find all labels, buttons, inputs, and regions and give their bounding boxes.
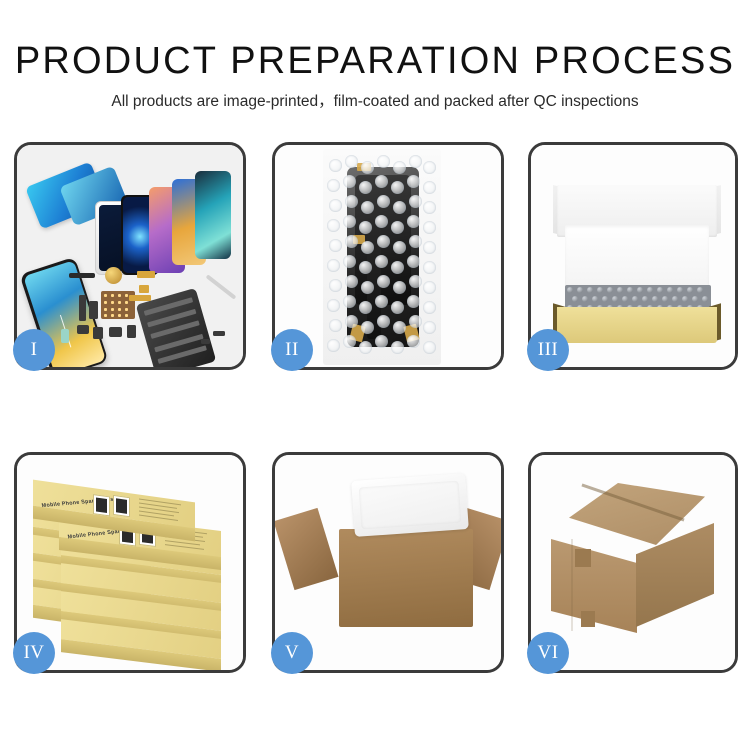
flex-cable — [69, 273, 95, 278]
styrofoam-lid — [351, 473, 469, 537]
step-badge-4: IV — [13, 632, 55, 674]
step-1-image — [17, 145, 243, 367]
step-panel-1: I — [14, 142, 246, 370]
step-panel-2: II — [272, 142, 504, 370]
step-5-image — [275, 455, 501, 670]
teal-gradient-phone — [195, 171, 231, 259]
small-part-d — [93, 327, 103, 339]
small-part-a — [79, 295, 86, 321]
small-part-h — [213, 331, 225, 336]
step-panel-4: Mobile Phone Spare Parts Mobile Phone Sp… — [14, 452, 246, 673]
carton-left-flap — [275, 508, 339, 590]
white-foam-sheet — [565, 225, 709, 287]
stacked-retail-boxes: Mobile Phone Spare Parts Mobile Phone Sp… — [33, 477, 229, 653]
small-part-f — [127, 325, 136, 338]
step-badge-5: V — [271, 632, 313, 674]
step-panel-6: VI — [528, 452, 738, 673]
product-process-infographic: PRODUCT PREPARATION PROCESS All products… — [0, 0, 750, 750]
step-2-image — [275, 145, 501, 367]
stacked-box-labeled-1: Mobile Phone Spare Parts — [33, 480, 195, 529]
step-4-image: Mobile Phone Spare Parts Mobile Phone Sp… — [17, 455, 243, 670]
speaker-component — [105, 267, 122, 284]
carton-with-styrofoam — [305, 465, 477, 655]
step-badge-6: VI — [527, 632, 569, 674]
gold-connector-c — [129, 295, 151, 301]
step-badge-3: III — [527, 329, 569, 371]
tweezers-tool — [206, 274, 237, 299]
gold-connector-b — [139, 285, 149, 293]
carton-tape-tab-top — [575, 549, 591, 567]
carton-edge-seam — [571, 539, 573, 631]
sealed-carton — [551, 483, 719, 641]
gold-connector-a — [137, 271, 155, 278]
carton-body — [339, 529, 473, 627]
open-kraft-box — [553, 185, 721, 335]
carton-tape-tab-bottom — [581, 611, 595, 627]
bubble-wrap-bag — [323, 149, 441, 365]
step-badge-1: I — [13, 329, 55, 371]
box-base-front — [557, 307, 717, 343]
small-part-e — [109, 327, 122, 337]
small-part-i — [201, 339, 210, 344]
small-part-c — [77, 325, 89, 334]
step-panel-5: V — [272, 452, 504, 673]
step-panel-3: III — [528, 142, 738, 370]
process-grid: I — [0, 0, 750, 750]
small-part-g — [61, 329, 69, 343]
small-part-b — [89, 301, 98, 319]
step-badge-2: II — [271, 329, 313, 371]
